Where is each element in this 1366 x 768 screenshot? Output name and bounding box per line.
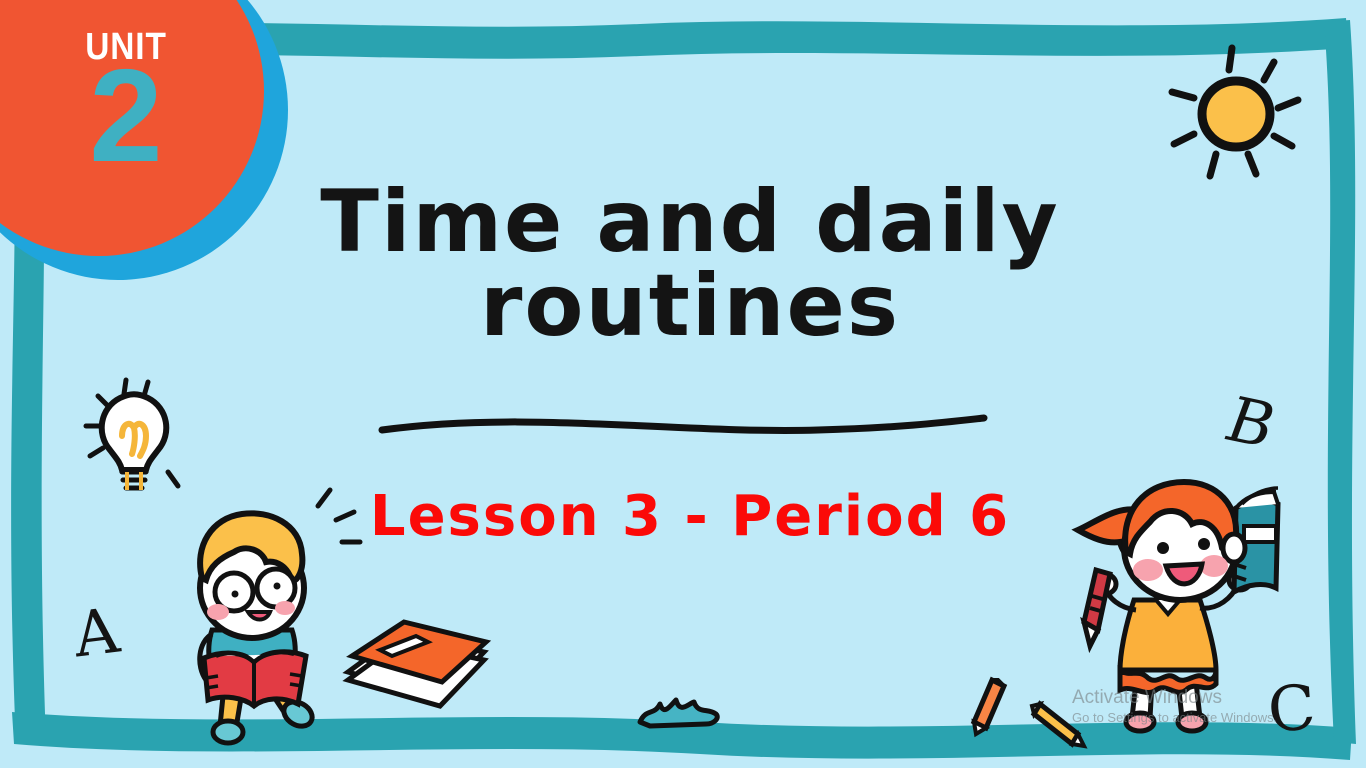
sun-icon bbox=[1146, 26, 1326, 196]
book-stack-illustration bbox=[334, 612, 496, 716]
orange-pencil-icon bbox=[968, 676, 1014, 738]
title-line-1: Time and daily bbox=[240, 180, 1140, 264]
title-underline-squiggle bbox=[378, 404, 988, 448]
subtitle: Lesson 3 - Period 6 bbox=[240, 484, 1140, 549]
unit-badge: UNIT 2 bbox=[0, 0, 288, 280]
page-title: Time and daily routines bbox=[240, 180, 1140, 349]
corner-letter-a: A bbox=[70, 594, 123, 672]
grass-doodle-icon bbox=[632, 694, 728, 734]
title-line-2: routines bbox=[240, 264, 1140, 348]
corner-letter-c: C bbox=[1266, 670, 1318, 746]
lightbulb-icon bbox=[72, 368, 202, 498]
corner-letter-b: B bbox=[1216, 383, 1286, 462]
slide-canvas: UNIT 2 Time and daily routines Lesson 3 … bbox=[0, 0, 1366, 768]
unit-number: 2 bbox=[56, 50, 196, 182]
yellow-pencil-icon bbox=[1026, 700, 1088, 750]
